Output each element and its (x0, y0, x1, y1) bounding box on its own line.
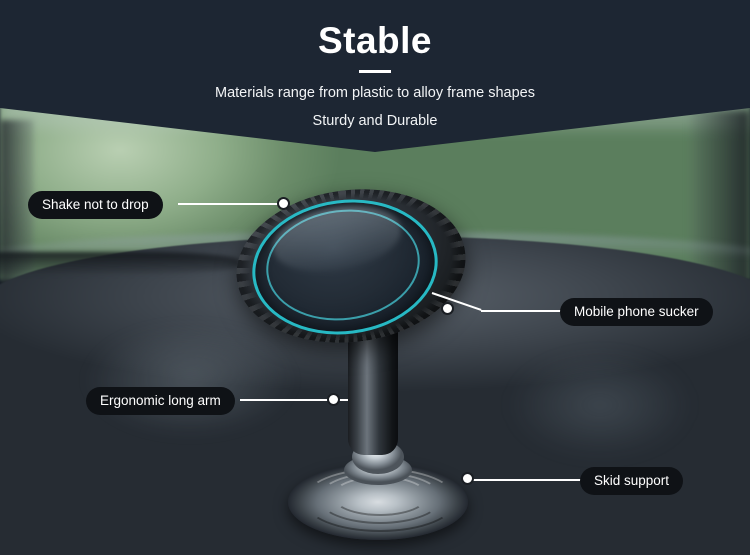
callout-dot-sucker (441, 302, 454, 315)
callout-skid-support: Skid support (580, 467, 683, 495)
callout-label: Skid support (594, 473, 669, 488)
callout-line-sucker-2 (481, 310, 563, 312)
subtitle-line-1: Materials range from plastic to alloy fr… (0, 85, 750, 101)
callout-mobile-phone-sucker: Mobile phone sucker (560, 298, 713, 326)
callout-ergonomic-long-arm: Ergonomic long arm (86, 387, 235, 415)
callout-label: Shake not to drop (42, 197, 149, 212)
product-feature-image: Stable Materials range from plastic to a… (0, 0, 750, 555)
page-title: Stable (0, 20, 750, 62)
callout-label: Ergonomic long arm (100, 393, 221, 408)
callout-dot-skid (461, 472, 474, 485)
title-divider (359, 70, 391, 73)
callout-dot-arm (327, 393, 340, 406)
callout-dot-shake (277, 197, 290, 210)
subtitle-line-2: Sturdy and Durable (0, 113, 750, 129)
callout-line-shake (178, 203, 284, 205)
callout-line-skid (466, 479, 590, 481)
callout-label: Mobile phone sucker (574, 304, 699, 319)
callout-shake-not-to-drop: Shake not to drop (28, 191, 163, 219)
